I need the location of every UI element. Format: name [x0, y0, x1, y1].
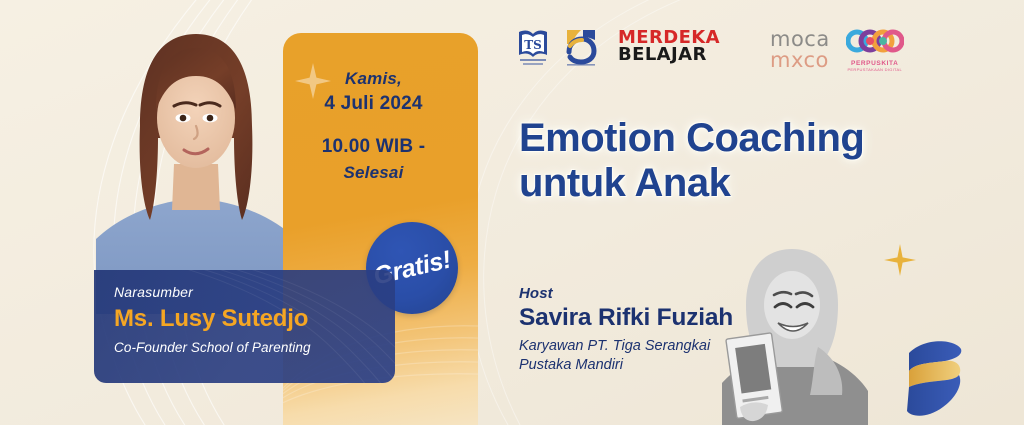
- logo-row-left: TS MERDEKA BELAJAR: [516, 26, 720, 68]
- date-day: Kamis,: [283, 67, 464, 91]
- perpuskita-mark: [846, 28, 904, 54]
- speaker-info-card: Narasumber Ms. Lusy Sutedjo Co-Founder S…: [94, 270, 395, 383]
- speaker-portrait: [96, 14, 296, 314]
- perpuskita-logo: PERPUSKITA PERPUSTAKAAN DIGITAL: [846, 28, 904, 72]
- date-full: 4 Juli 2024: [283, 91, 464, 118]
- host-role-label: Host: [519, 285, 733, 302]
- host-info-block: Host Savira Rifki Fuziah Karyawan PT. Ti…: [519, 285, 733, 376]
- four-point-star-icon: [884, 244, 916, 276]
- perpuskita-sublabel: PERPUSTAKAAN DIGITAL: [846, 67, 904, 72]
- host-name: Savira Rifki Fuziah: [519, 304, 733, 332]
- moca-mxco-logo: moca mxco: [770, 29, 830, 71]
- headline-line-2: untuk Anak: [519, 161, 864, 206]
- page-title: Emotion Coaching untuk Anak: [519, 116, 864, 206]
- host-affiliation-line-2: Pustaka Mandiri: [519, 356, 733, 375]
- speaker-affiliation: Co-Founder School of Parenting: [114, 340, 375, 355]
- date-text-block: Kamis, 4 Juli 2024 10.00 WIB - Selesai: [283, 67, 464, 185]
- time-start: 10.00 WIB -: [283, 134, 464, 161]
- time-end: Selesai: [283, 161, 464, 185]
- mxco-text: mxco: [770, 50, 830, 71]
- speaker-role-label: Narasumber: [114, 284, 375, 300]
- host-affiliation-line-1: Karyawan PT. Tiga Serangkai: [519, 337, 733, 356]
- host-portrait: [722, 243, 902, 425]
- merdeka-belajar-logo: MERDEKA BELAJAR: [618, 30, 720, 64]
- tiga-serangkai-logo: TS: [516, 26, 550, 68]
- belajar-text: BELAJAR: [618, 47, 720, 64]
- anniversary-logo: [561, 26, 601, 68]
- ribbon-spiral-icon: [901, 333, 973, 425]
- headline-line-1: Emotion Coaching: [519, 116, 864, 161]
- perpuskita-label: PERPUSKITA: [846, 60, 904, 67]
- speaker-name: Ms. Lusy Sutedjo: [114, 305, 375, 333]
- logo-row-right: moca mxco PERPUSKITA PERPUSTAKAAN DIGITA…: [770, 28, 904, 72]
- host-affiliation: Karyawan PT. Tiga Serangkai Pustaka Mand…: [519, 337, 733, 376]
- promo-banner: Kamis, 4 Juli 2024 10.00 WIB - Selesai G…: [0, 0, 1024, 425]
- svg-text:TS: TS: [524, 38, 542, 52]
